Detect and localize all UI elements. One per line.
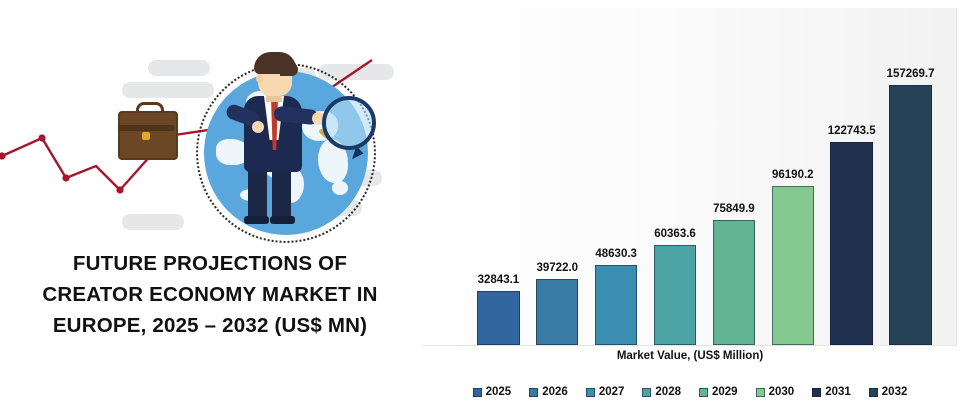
- legend-label-2028: 2028: [655, 386, 681, 398]
- legend-label-2032: 2032: [882, 386, 908, 398]
- legend-swatch-icon-2032: [869, 388, 878, 397]
- bar-value-label-2031: 122743.5: [816, 125, 888, 137]
- bar-2029[interactable]: [713, 220, 755, 345]
- chart-legend: 20252026202720282029203020312032: [420, 386, 960, 398]
- hand-left: [252, 121, 264, 133]
- legend-item-2025[interactable]: 2025: [473, 386, 512, 398]
- briefcase-lock-icon: [142, 132, 150, 140]
- bar-value-label-2025: 32843.1: [463, 274, 535, 286]
- bar-2032[interactable]: [889, 85, 931, 345]
- legend-label-2030: 2030: [769, 386, 795, 398]
- page-title: FUTURE PROJECTIONS OF CREATOR ECONOMY MA…: [0, 248, 420, 341]
- left-panel: FUTURE PROJECTIONS OF CREATOR ECONOMY MA…: [0, 0, 420, 417]
- shoe-left: [244, 216, 269, 224]
- legend-swatch-icon-2029: [699, 388, 708, 397]
- illustration-businessman-globe: [0, 8, 420, 248]
- businessman-figure: [218, 46, 338, 224]
- infographic-page: FUTURE PROJECTIONS OF CREATOR ECONOMY MA…: [0, 0, 960, 417]
- legend-label-2026: 2026: [542, 386, 568, 398]
- leg-left: [248, 164, 267, 220]
- legend-swatch-icon-2030: [756, 388, 765, 397]
- ear: [256, 74, 263, 83]
- legend-item-2031[interactable]: 2031: [812, 386, 851, 398]
- title-line-2: CREATOR ECONOMY MARKET IN: [0, 279, 420, 310]
- bar-2025[interactable]: [477, 291, 519, 345]
- bar-2031[interactable]: [830, 142, 872, 345]
- bars-container: 32843.139722.048630.360363.675849.996190…: [423, 8, 956, 345]
- plot-area: 32843.139722.048630.360363.675849.996190…: [423, 8, 957, 346]
- legend-item-2028[interactable]: 2028: [642, 386, 681, 398]
- legend-item-2026[interactable]: 2026: [529, 386, 568, 398]
- axis-title: Market Value, (US$ Million): [420, 350, 960, 362]
- bar-2027[interactable]: [595, 265, 637, 345]
- bar-value-label-2027: 48630.3: [580, 248, 652, 260]
- legend-item-2029[interactable]: 2029: [699, 386, 738, 398]
- magnifier-icon: [322, 96, 376, 150]
- hair-side: [280, 62, 298, 76]
- legend-item-2027[interactable]: 2027: [586, 386, 625, 398]
- shoe-right: [270, 216, 295, 224]
- legend-item-2030[interactable]: 2030: [756, 386, 795, 398]
- chart-panel: 32843.139722.048630.360363.675849.996190…: [420, 0, 960, 417]
- bar-2026[interactable]: [536, 279, 578, 345]
- legend-swatch-icon-2031: [812, 388, 821, 397]
- legend-item-2032[interactable]: 2032: [869, 386, 908, 398]
- legend-label-2025: 2025: [486, 386, 512, 398]
- legend-swatch-icon-2028: [642, 388, 651, 397]
- title-line-3: EUROPE, 2025 – 2032 (US$ MN): [0, 310, 420, 341]
- bar-value-label-2032: 157269.7: [875, 68, 947, 80]
- bar-value-label-2029: 75849.9: [698, 203, 770, 215]
- legend-swatch-icon-2026: [529, 388, 538, 397]
- bar-2028[interactable]: [654, 245, 696, 345]
- legend-swatch-icon-2027: [586, 388, 595, 397]
- leg-right: [272, 164, 291, 220]
- bar-value-label-2028: 60363.6: [639, 228, 711, 240]
- bar-2030[interactable]: [772, 186, 814, 345]
- bar-value-label-2026: 39722.0: [521, 262, 593, 274]
- title-line-1: FUTURE PROJECTIONS OF: [0, 248, 420, 279]
- legend-label-2027: 2027: [599, 386, 625, 398]
- briefcase-strap: [118, 125, 174, 131]
- legend-label-2031: 2031: [825, 386, 851, 398]
- legend-label-2029: 2029: [712, 386, 738, 398]
- bar-value-label-2030: 96190.2: [757, 169, 829, 181]
- legend-swatch-icon-2025: [473, 388, 482, 397]
